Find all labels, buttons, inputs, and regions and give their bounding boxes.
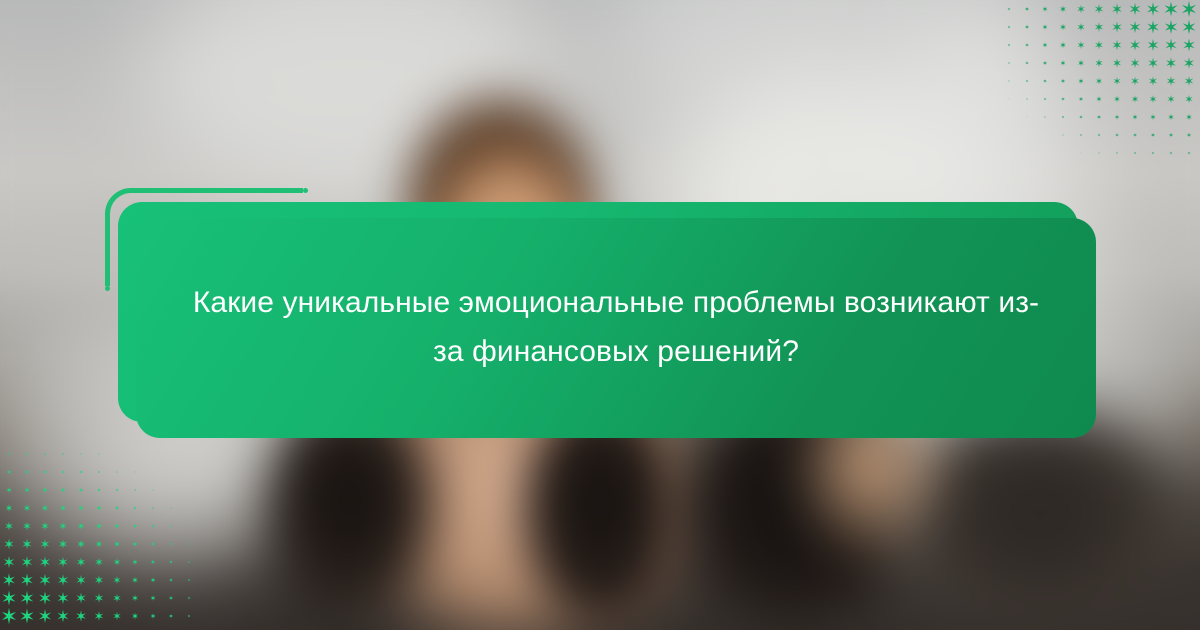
quote-headline: Какие уникальные эмоциональные проблемы … [186, 279, 1046, 376]
screenshot-stage: Какие уникальные эмоциональные проблемы … [0, 0, 1200, 630]
quote-card: Какие уникальные эмоциональные проблемы … [136, 218, 1096, 438]
quote-card-stack: Какие уникальные эмоциональные проблемы … [0, 0, 1200, 630]
